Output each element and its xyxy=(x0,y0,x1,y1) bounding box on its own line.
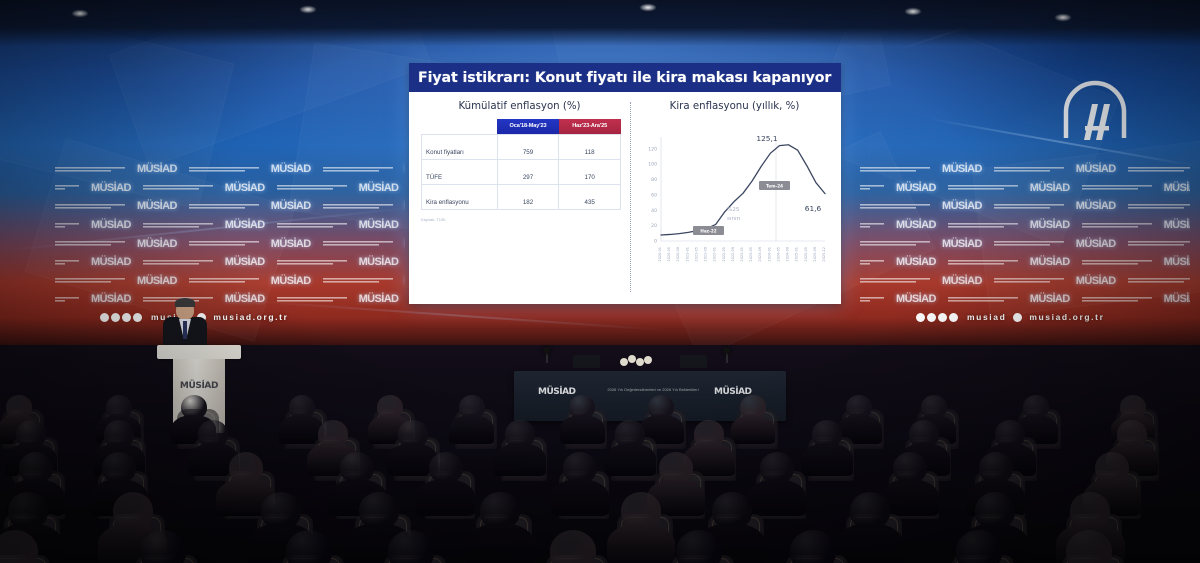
backdrop-logo-bars xyxy=(55,166,125,173)
audience-shoulders xyxy=(731,415,776,444)
backdrop-logo-bars xyxy=(143,222,213,229)
backdrop-logo-text: MÜSİAD xyxy=(942,163,982,175)
audience-shoulders xyxy=(449,415,494,444)
backdrop-logo-text: MÜSİAD xyxy=(1164,256,1190,268)
backdrop-logo-bars xyxy=(860,203,930,210)
backdrop-logo-row: MÜSİADMÜSİADMÜSİADMÜSİAD xyxy=(860,197,1190,216)
backdrop-logo-text: MÜSİAD xyxy=(271,238,311,250)
backdrop-logo-bars xyxy=(323,277,393,284)
right-pane-title: Kira enflasyonu (yıllık, %) xyxy=(634,101,835,112)
ceiling-band xyxy=(0,0,1200,46)
facebook-icon xyxy=(100,313,109,322)
audience-shoulders xyxy=(416,479,474,516)
backdrop-logo-text: MÜSİAD xyxy=(137,200,177,212)
backdrop-logo-bars xyxy=(277,222,347,229)
backdrop-logo-bars xyxy=(143,259,213,266)
backdrop-logo-bars xyxy=(994,166,1064,173)
x-axis-tick-labels: 2020-012020-052020-092021-012021-052021-… xyxy=(658,247,826,262)
backdrop-logo-bars xyxy=(948,222,1018,229)
backdrop-logo-text: MÜSİAD xyxy=(942,275,982,287)
backdrop-logo-bars xyxy=(55,184,79,191)
backdrop-logo-bars xyxy=(189,277,259,284)
backdrop-logo-row: MÜSİADMÜSİADMÜSİADMÜSİAD xyxy=(860,253,1190,272)
ceiling-spotlight xyxy=(72,10,88,17)
y-axis-tick: 0 xyxy=(654,239,657,245)
x-axis-tick: 2020-05 xyxy=(667,247,671,262)
backdrop-logo-bars xyxy=(1128,166,1190,173)
aa-broadcaster-logo xyxy=(1052,78,1138,150)
backdrop-logo-wall-left: MÜSİADMÜSİADMÜSİADMÜSİADMÜSİADMÜSİADMÜSİ… xyxy=(55,160,405,310)
social-handle: musiad xyxy=(967,312,1006,322)
backdrop-logo-bars xyxy=(1128,240,1190,247)
backdrop-logo-text: MÜSİAD xyxy=(942,238,982,250)
backdrop-logo-wall-right: MÜSİADMÜSİADMÜSİADMÜSİADMÜSİADMÜSİADMÜSİ… xyxy=(860,160,1190,310)
rent-inflation-pane: Kira enflasyonu (yıllık, %) 020406080100… xyxy=(630,92,841,304)
table-cell-period-1: 297 xyxy=(497,159,559,184)
backdrop-logo-text: MÜSİAD xyxy=(225,219,265,231)
backdrop-logo-bars xyxy=(1128,203,1190,210)
table-header-blank xyxy=(422,119,498,134)
peak-value-label: 125,1 xyxy=(756,134,777,143)
youtube-icon xyxy=(949,313,958,322)
ceiling-spotlight xyxy=(300,6,316,13)
backdrop-logo-row: MÜSİADMÜSİADMÜSİADMÜSİAD xyxy=(55,197,405,216)
backdrop-logo-bars xyxy=(55,296,79,303)
backdrop-logo-text: MÜSİAD xyxy=(359,256,399,268)
table-row: TÜFE297170 xyxy=(422,159,621,184)
backdrop-logo-bars xyxy=(55,277,125,284)
backdrop-logo-text: MÜSİAD xyxy=(1076,163,1116,175)
audience-shoulders xyxy=(466,523,535,563)
table-row: Kira enflasyonu182435 xyxy=(422,184,621,209)
backdrop-logo-bars xyxy=(1082,222,1152,229)
svg-text:Tem-24: Tem-24 xyxy=(765,184,782,189)
y-axis-tick: 40 xyxy=(651,208,657,214)
backdrop-logo-bars xyxy=(189,203,259,210)
cumulative-inflation-pane: Kümülatif enflasyon (%) Oca'18-May'23 Ha… xyxy=(409,92,630,304)
backdrop-logo-text: MÜSİAD xyxy=(1164,182,1190,194)
backdrop-logo-bars xyxy=(994,203,1064,210)
backdrop-logo-bars xyxy=(1128,277,1190,284)
backdrop-logo-row: MÜSİADMÜSİADMÜSİADMÜSİAD xyxy=(860,272,1190,291)
backdrop-logo-bars xyxy=(1082,296,1152,303)
backdrop-logo-bars xyxy=(277,296,347,303)
table-cell-period-2: 435 xyxy=(559,184,621,209)
x-axis-tick: 2021-09 xyxy=(703,247,707,262)
conference-hall-scene: MÜSİADMÜSİADMÜSİADMÜSİADMÜSİADMÜSİADMÜSİ… xyxy=(0,0,1200,563)
backdrop-logo-bars xyxy=(55,203,125,210)
audience-shoulders xyxy=(560,415,605,444)
callout-tem-24: Tem-24 xyxy=(759,181,790,190)
x-axis-tick: 2022-05 xyxy=(721,247,725,262)
x-axis-tick: 2021-01 xyxy=(685,247,689,262)
backdrop-logo-text: MÜSİAD xyxy=(137,275,177,287)
x-axis-tick: 2023-05 xyxy=(749,247,753,262)
ceiling-spotlight xyxy=(1055,14,1071,21)
table-cell-period-2: 118 xyxy=(559,134,621,159)
globe-icon xyxy=(1013,313,1022,322)
backdrop-logo-text: MÜSİAD xyxy=(1076,200,1116,212)
backdrop-logo-row: MÜSİADMÜSİADMÜSİADMÜSİAD xyxy=(860,179,1190,198)
y-axis-tick: 60 xyxy=(651,192,657,198)
x-axis-tick: 2022-09 xyxy=(730,247,734,262)
y-axis-tick: 100 xyxy=(648,162,657,168)
audience-shoulders xyxy=(836,523,905,563)
audience-shoulders xyxy=(550,479,608,516)
audience-shoulders xyxy=(494,443,546,476)
backdrop-logo-bars xyxy=(860,277,930,284)
chart-svg: 020406080100120 125,1 61,6 %25 xyxy=(635,119,835,289)
backdrop-logo-text: MÜSİAD xyxy=(896,293,936,305)
callout-haz-22: Haz-22 xyxy=(693,226,724,235)
instagram-icon xyxy=(938,313,947,322)
ceiling-spotlight xyxy=(905,8,921,15)
table-header-row: Oca'18-May'23 Haz'23-Ara'25 xyxy=(422,119,621,134)
backdrop-logo-text: MÜSİAD xyxy=(1030,256,1070,268)
audience-shoulders xyxy=(605,443,657,476)
backdrop-logo-bars xyxy=(323,203,393,210)
backdrop-logo-bars xyxy=(994,240,1064,247)
website-url: musiad.org.tr xyxy=(1029,312,1104,322)
backdrop-logo-text: MÜSİAD xyxy=(896,219,936,231)
backdrop-logo-bars xyxy=(1082,259,1152,266)
backdrop-logo-text: MÜSİAD xyxy=(271,163,311,175)
source-note: Kaynak: TÜİK xyxy=(421,217,622,222)
backdrop-logo-bars xyxy=(323,166,393,173)
speaker-hair xyxy=(175,298,195,307)
x-axis-tick: 2024-09 xyxy=(785,247,789,262)
podium-top xyxy=(157,345,241,359)
head-table-logo-left: MÜSİAD xyxy=(538,387,576,397)
x-axis-tick: 2023-01 xyxy=(740,247,744,262)
backdrop-logo-row: MÜSİADMÜSİADMÜSİADMÜSİAD xyxy=(860,290,1190,309)
backdrop-logo-row: MÜSİADMÜSİADMÜSİADMÜSİAD xyxy=(55,234,405,253)
backdrop-logo-bars xyxy=(948,184,1018,191)
backdrop-logo-bars xyxy=(994,277,1064,284)
backdrop-logo-bars xyxy=(55,259,79,266)
cumulative-inflation-table: Oca'18-May'23 Haz'23-Ara'25 Konut fiyatl… xyxy=(421,119,621,210)
backdrop-logo-bars xyxy=(860,184,884,191)
social-strip-right: musiad musiad.org.tr xyxy=(916,312,1104,322)
x-axis-tick: 2024-05 xyxy=(776,247,780,262)
y-axis-tick-labels: 020406080100120 xyxy=(648,146,657,244)
backdrop-logo-bars xyxy=(277,259,347,266)
backdrop-logo-bars xyxy=(860,259,884,266)
backdrop-logo-text: MÜSİAD xyxy=(137,238,177,250)
table-header-period-2: Haz'23-Ara'25 xyxy=(559,119,621,134)
audience-member xyxy=(286,530,332,563)
table-row: Konut fiyatları759118 xyxy=(422,134,621,159)
backdrop-logo-bars xyxy=(860,296,884,303)
backdrop-logo-bars xyxy=(55,222,79,229)
backdrop-logo-row: MÜSİADMÜSİADMÜSİADMÜSİAD xyxy=(55,179,405,198)
backdrop-logo-text: MÜSİAD xyxy=(91,219,131,231)
facebook-icon xyxy=(916,313,925,322)
backdrop-logo-text: MÜSİAD xyxy=(91,256,131,268)
x-axis-tick: 2025-01 xyxy=(794,247,798,262)
backdrop-logo-text: MÜSİAD xyxy=(942,200,982,212)
table-cell-period-1: 759 xyxy=(497,134,559,159)
backdrop-logo-text: MÜSİAD xyxy=(225,182,265,194)
backdrop-logo-text: MÜSİAD xyxy=(359,293,399,305)
y-axis-tick: 80 xyxy=(651,177,657,183)
y-axis-tick: 20 xyxy=(651,223,657,229)
social-icons xyxy=(916,313,958,322)
backdrop-logo-row: MÜSİADMÜSİADMÜSİADMÜSİAD xyxy=(55,290,405,309)
social-icons xyxy=(100,313,142,322)
backdrop-logo-bars xyxy=(860,166,930,173)
youtube-icon xyxy=(133,313,142,322)
audience-shoulders xyxy=(748,479,806,516)
x-axis-tick: 2023-09 xyxy=(758,247,762,262)
x-axis-tick: 2020-09 xyxy=(676,247,680,262)
audience-shoulders xyxy=(801,443,853,476)
backdrop-logo-row: MÜSİADMÜSİADMÜSİADMÜSİAD xyxy=(55,272,405,291)
flower-arrangement xyxy=(620,354,656,370)
audience-member xyxy=(1066,530,1112,563)
microphone-head xyxy=(723,347,730,354)
backdrop-logo-text: MÜSİAD xyxy=(91,182,131,194)
instagram-icon xyxy=(122,313,131,322)
backdrop-logo-text: MÜSİAD xyxy=(137,163,177,175)
backdrop-logo-bars xyxy=(860,222,884,229)
backdrop-logo-bars xyxy=(189,166,259,173)
website-url: musiad.org.tr xyxy=(213,312,288,322)
table-cell-period-2: 170 xyxy=(559,159,621,184)
table-cell-period-1: 182 xyxy=(497,184,559,209)
podium-logo: MÜSİAD xyxy=(173,381,225,391)
rent-inflation-chart: 020406080100120 125,1 61,6 %25 xyxy=(635,119,835,289)
end-value-label: 61,6 xyxy=(804,204,821,213)
backdrop-logo-row: MÜSİADMÜSİADMÜSİADMÜSİAD xyxy=(55,160,405,179)
microphone-head xyxy=(543,347,550,354)
backdrop-logo-text: MÜSİAD xyxy=(1030,293,1070,305)
cap-note-line-2: sınırı xyxy=(727,216,741,222)
backdrop-logo-row: MÜSİADMÜSİADMÜSİADMÜSİAD xyxy=(860,216,1190,235)
audience-shoulders xyxy=(607,523,676,563)
backdrop-logo-row: MÜSİADMÜSİADMÜSİADMÜSİAD xyxy=(55,253,405,272)
backdrop-logo-text: MÜSİAD xyxy=(1030,182,1070,194)
backdrop-logo-bars xyxy=(1082,184,1152,191)
backdrop-logo-bars xyxy=(277,184,347,191)
backdrop-logo-row: MÜSİADMÜSİADMÜSİADMÜSİAD xyxy=(860,160,1190,179)
audience-member xyxy=(140,530,186,563)
svg-text:Haz-22: Haz-22 xyxy=(700,229,716,234)
x-axis-tick: 2024-01 xyxy=(767,247,771,262)
backdrop-logo-text: MÜSİAD xyxy=(896,256,936,268)
x-axis-tick: 2020-01 xyxy=(658,247,662,262)
left-pane-title: Kümülatif enflasyon (%) xyxy=(417,101,622,112)
backdrop-logo-text: MÜSİAD xyxy=(225,293,265,305)
rent-inflation-series-line xyxy=(661,145,825,235)
y-axis-tick: 120 xyxy=(648,146,657,152)
cap-note-line-1: %25 xyxy=(727,207,740,213)
backdrop-logo-text: MÜSİAD xyxy=(1164,293,1190,305)
backdrop-logo-text: MÜSİAD xyxy=(1164,219,1190,231)
speaker-tie xyxy=(183,321,187,339)
backdrop-logo-bars xyxy=(948,296,1018,303)
x-axis-tick: 2022-01 xyxy=(712,247,716,262)
backdrop-logo-text: MÜSİAD xyxy=(1076,275,1116,287)
backdrop-logo-bars xyxy=(948,259,1018,266)
backdrop-logo-bars xyxy=(189,240,259,247)
slide-body: Kümülatif enflasyon (%) Oca'18-May'23 Ha… xyxy=(409,92,841,304)
x-axis-tick: 2025-09 xyxy=(812,247,816,262)
speaker-person xyxy=(163,300,207,350)
table-cell-label: TÜFE xyxy=(422,159,498,184)
backdrop-logo-text: MÜSİAD xyxy=(225,256,265,268)
table-header-period-1: Oca'18-May'23 xyxy=(497,119,559,134)
backdrop-logo-text: MÜSİAD xyxy=(359,219,399,231)
backdrop-logo-text: MÜSİAD xyxy=(1076,238,1116,250)
backdrop-logo-row: MÜSİADMÜSİADMÜSİADMÜSİAD xyxy=(55,216,405,235)
backdrop-logo-text: MÜSİAD xyxy=(896,182,936,194)
backdrop-logo-bars xyxy=(143,184,213,191)
backdrop-logo-bars xyxy=(323,240,393,247)
projection-screen: Fiyat istikrarı: Konut fiyatı ile kira m… xyxy=(409,63,841,304)
laptop xyxy=(680,355,707,368)
twitter-icon xyxy=(927,313,936,322)
backdrop-logo-bars xyxy=(860,240,930,247)
backdrop-logo-text: MÜSİAD xyxy=(91,293,131,305)
head-table-subtitle: 2026 Yılı Değerlendirmeleri ve 2026 Yılı… xyxy=(598,387,708,393)
slide-title: Fiyat istikrarı: Konut fiyatı ile kira m… xyxy=(409,63,841,92)
backdrop-logo-text: MÜSİAD xyxy=(1030,219,1070,231)
backdrop-logo-text: MÜSİAD xyxy=(359,182,399,194)
backdrop-logo-text: MÜSİAD xyxy=(271,275,311,287)
x-axis-tick: 2025-05 xyxy=(803,247,807,262)
table-cell-label: Kira enflasyonu xyxy=(422,184,498,209)
laptop xyxy=(573,355,600,368)
backdrop-logo-row: MÜSİADMÜSİADMÜSİADMÜSİAD xyxy=(860,234,1190,253)
x-axis-tick: 2025-12 xyxy=(822,247,826,262)
ceiling-spotlight xyxy=(640,4,656,11)
table-cell-label: Konut fiyatları xyxy=(422,134,498,159)
twitter-icon xyxy=(111,313,120,322)
backdrop-logo-text: MÜSİAD xyxy=(271,200,311,212)
x-axis-tick: 2021-05 xyxy=(694,247,698,262)
backdrop-logo-bars xyxy=(55,240,125,247)
